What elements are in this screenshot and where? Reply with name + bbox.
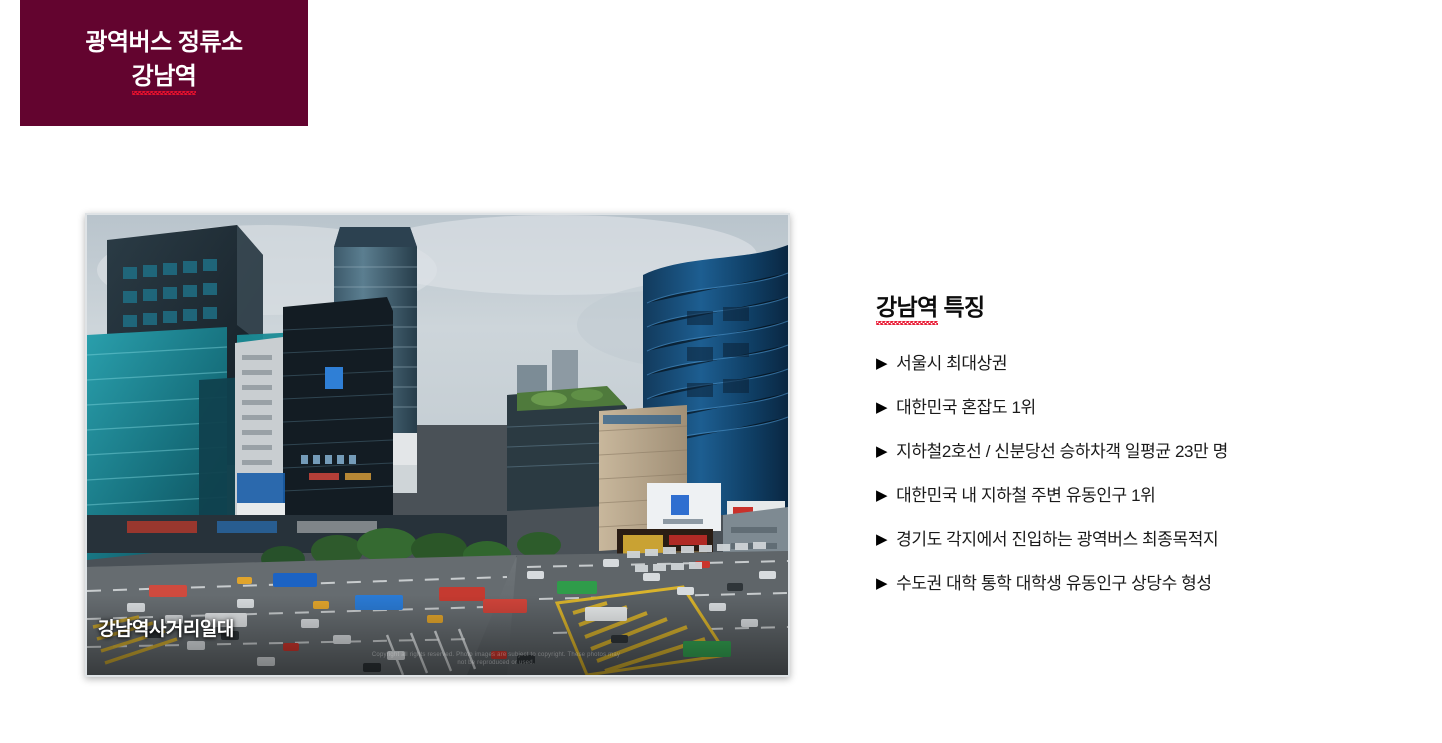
list-item-label: 대한민국 내 지하철 주변 유동인구 1위	[896, 484, 1396, 508]
triangle-bullet-icon: ▶	[876, 352, 887, 376]
triangle-bullet-icon: ▶	[876, 484, 887, 508]
photo-illustration	[87, 215, 788, 675]
list-item-label: 수도권 대학 통학 대학생 유동인구 상당수 형성	[896, 572, 1396, 596]
title-line-primary: 광역버스 정류소	[85, 26, 242, 60]
list-item: ▶ 경기도 각지에서 진입하는 광역버스 최종목적지	[876, 528, 1396, 552]
list-item: ▶ 수도권 대학 통학 대학생 유동인구 상당수 형성	[876, 572, 1396, 596]
triangle-bullet-icon: ▶	[876, 572, 887, 596]
heading-suffix: 특징	[938, 294, 985, 320]
heading-spellcheck-word: 강남역	[876, 288, 938, 322]
gangnam-intersection-photo	[87, 215, 788, 675]
list-item-label: 경기도 각지에서 진입하는 광역버스 최종목적지	[896, 528, 1396, 552]
list-item: ▶ 대한민국 내 지하철 주변 유동인구 1위	[876, 484, 1396, 508]
feature-bullet-list: ▶ 서울시 최대상권 ▶ 대한민국 혼잡도 1위 ▶ 지하철2호선 / 신분당선…	[876, 352, 1396, 596]
title-line-secondary: 강남역	[132, 60, 197, 94]
list-item: ▶ 서울시 최대상권	[876, 352, 1396, 376]
photo-frame: 강남역사거리일대 Copyright all rights reserved. …	[85, 213, 790, 677]
content-panel: 강남역 특징 ▶ 서울시 최대상권 ▶ 대한민국 혼잡도 1위 ▶ 지하철2호선…	[876, 288, 1396, 616]
page-title: 강남역 특징	[876, 288, 1396, 322]
list-item-label: 지하철2호선 / 신분당선 승하차객 일평균 23만 명	[896, 440, 1396, 464]
photo-caption: 강남역사거리일대	[98, 614, 234, 641]
triangle-bullet-icon: ▶	[876, 396, 887, 420]
list-item-label: 서울시 최대상권	[896, 352, 1396, 376]
photo-watermark: Copyright all rights reserved. Photo ima…	[371, 651, 621, 667]
list-item: ▶ 대한민국 혼잡도 1위	[876, 396, 1396, 420]
triangle-bullet-icon: ▶	[876, 440, 887, 464]
list-item: ▶ 지하철2호선 / 신분당선 승하차객 일평균 23만 명	[876, 440, 1396, 464]
title-banner: 광역버스 정류소 강남역	[20, 0, 308, 126]
triangle-bullet-icon: ▶	[876, 528, 887, 552]
title-spellcheck-word: 강남역	[132, 60, 197, 94]
list-item-label: 대한민국 혼잡도 1위	[896, 396, 1396, 420]
